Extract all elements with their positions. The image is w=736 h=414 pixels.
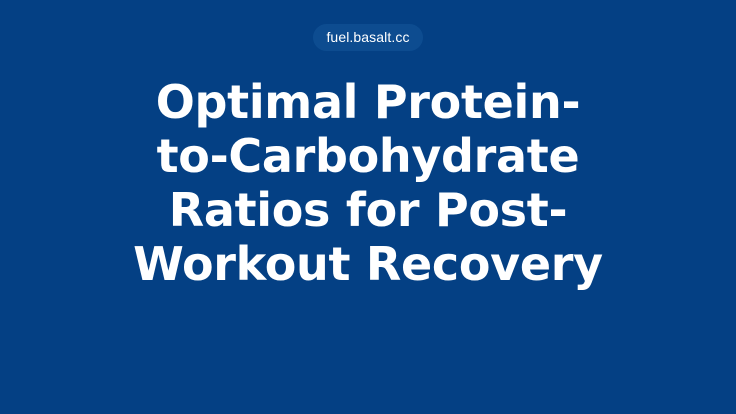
page-title: Optimal Protein-to-Carbohydrate Ratios f… — [132, 75, 604, 291]
domain-badge: fuel.basalt.cc — [313, 24, 422, 51]
title-container: Optimal Protein-to-Carbohydrate Ratios f… — [132, 75, 604, 291]
social-share-card: fuel.basalt.cc Optimal Protein-to-Carboh… — [0, 0, 736, 414]
